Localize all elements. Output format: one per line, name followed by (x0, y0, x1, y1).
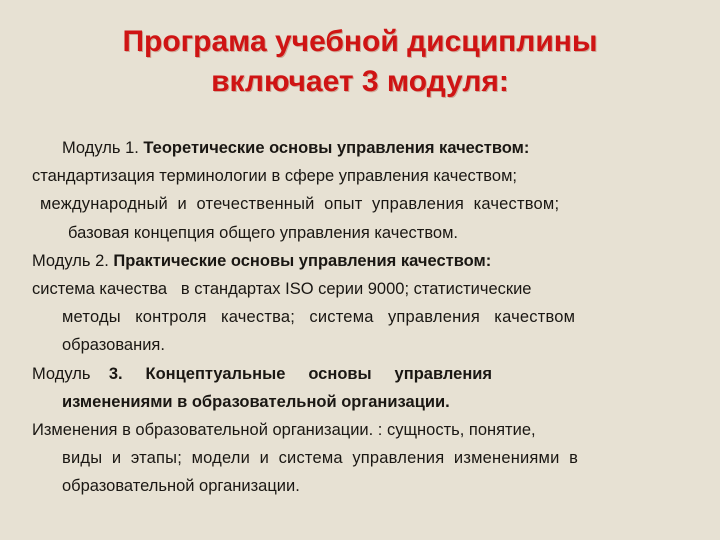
module-3-heading-line-2: изменениями в образовательной организаци… (32, 388, 688, 416)
module-2-line-2: методы контроля качества; система управл… (32, 303, 688, 331)
module-1-line-2: международный и отечественный опыт управ… (32, 190, 688, 218)
module-2-heading: Модуль 2. Практические основы управления… (32, 247, 688, 275)
module-3-label: Модуль (32, 365, 109, 383)
module-3-heading-text-part1: 3. Концептуальные основы управления (109, 365, 492, 383)
module-3-heading-line-1: Модуль 3. Концептуальные основы управлен… (32, 360, 688, 388)
module-1-line-3: базовая концепция общего управления каче… (32, 219, 688, 247)
module-2-line-3: образования. (32, 331, 688, 359)
module-3-heading-text-part2: изменениями в образовательной организаци… (62, 393, 450, 411)
slide-canvas: Програма учебной дисциплины включает 3 м… (0, 0, 720, 540)
module-3-line-2: виды и этапы; модели и система управлени… (32, 444, 688, 472)
module-2-line-1: система качества в стандартах ISO серии … (32, 275, 688, 303)
module-1-line-1: стандартизация терминологии в сфере упра… (32, 162, 688, 190)
module-2-heading-text: Практические основы управления качеством… (113, 252, 491, 270)
title-line-1: Програма учебной дисциплины (34, 22, 686, 62)
module-1-heading: Модуль 1. Теоретические основы управлени… (32, 134, 688, 162)
slide-title: Програма учебной дисциплины включает 3 м… (34, 22, 686, 102)
slide-body: Модуль 1. Теоретические основы управлени… (32, 134, 688, 501)
module-1-heading-text: Теоретические основы управления качество… (143, 139, 529, 157)
module-3-line-1: Изменения в образовательной организации.… (32, 416, 688, 444)
title-line-2: включает 3 модуля: (34, 62, 686, 102)
module-2-label: Модуль 2. (32, 252, 113, 270)
module-1-label: Модуль 1. (62, 139, 143, 157)
module-3-line-3: образовательной организации. (32, 472, 688, 500)
